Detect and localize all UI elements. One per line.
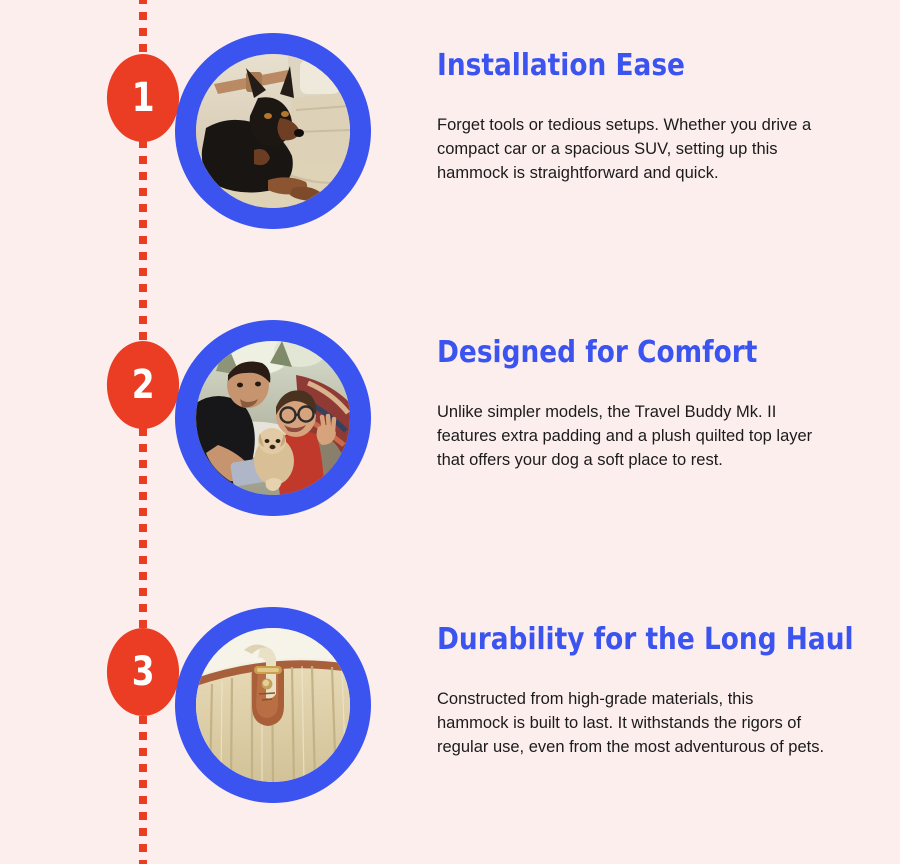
step-number-label: 1 bbox=[132, 75, 154, 121]
quilted-fabric-leather-strap-photo bbox=[196, 628, 350, 782]
step-text-column-2: Designed for Comfort Unlike simpler mode… bbox=[437, 315, 837, 472]
step-photo-ring-3 bbox=[175, 607, 371, 803]
step-item-3: 3 bbox=[0, 602, 900, 852]
step-number-badge-1: 1 bbox=[107, 54, 179, 142]
step-body-text: Forget tools or tedious setups. Whether … bbox=[437, 83, 827, 185]
step-number-badge-2: 2 bbox=[107, 341, 179, 429]
step-number-label: 3 bbox=[132, 649, 154, 695]
step-item-2: 2 bbox=[0, 315, 900, 565]
step-title: Durability for the Long Haul bbox=[437, 602, 789, 657]
step-text-column-1: Installation Ease Forget tools or tediou… bbox=[437, 28, 837, 185]
steps-list: 1 bbox=[0, 0, 900, 860]
step-number-badge-3: 3 bbox=[107, 628, 179, 716]
doberman-in-car-hammock-photo bbox=[196, 54, 350, 208]
step-photo-ring-1 bbox=[175, 33, 371, 229]
step-number-label: 2 bbox=[132, 362, 154, 408]
couple-selfie-with-dog-photo bbox=[196, 341, 350, 495]
step-text-column-3: Durability for the Long Haul Constructed… bbox=[437, 602, 837, 759]
step-title: Installation Ease bbox=[437, 28, 789, 83]
step-item-1: 1 bbox=[0, 28, 900, 278]
step-body-text: Unlike simpler models, the Travel Buddy … bbox=[437, 370, 827, 472]
step-title: Designed for Comfort bbox=[437, 315, 789, 370]
step-body-text: Constructed from high-grade materials, t… bbox=[437, 657, 827, 759]
step-photo-ring-2 bbox=[175, 320, 371, 516]
